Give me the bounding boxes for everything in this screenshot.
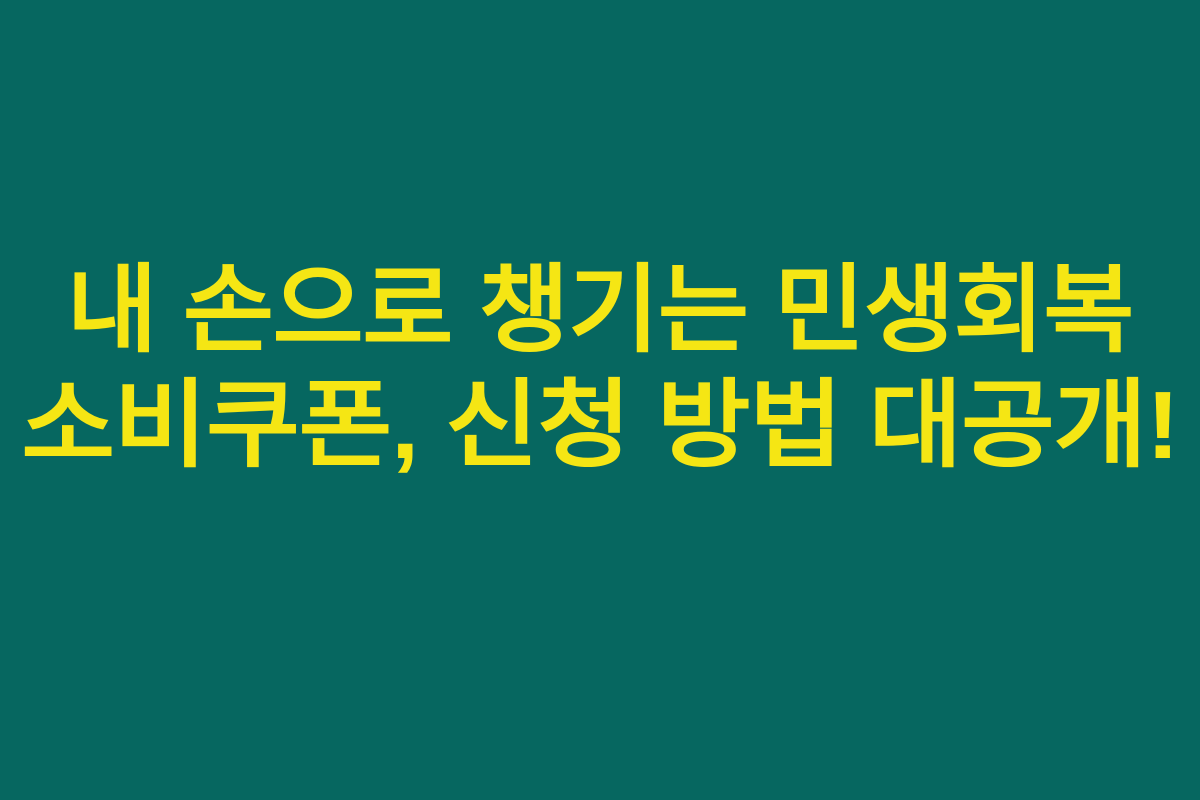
headline-line-1: 내 손으로 챙기는 민생회복 <box>0 263 1200 359</box>
headline-line-2: 소비쿠폰, 신청 방법 대공개! <box>0 378 1200 474</box>
banner-canvas: 내 손으로 챙기는 민생회복 소비쿠폰, 신청 방법 대공개! <box>0 0 1200 800</box>
headline-block: 내 손으로 챙기는 민생회복 소비쿠폰, 신청 방법 대공개! <box>0 263 1200 474</box>
